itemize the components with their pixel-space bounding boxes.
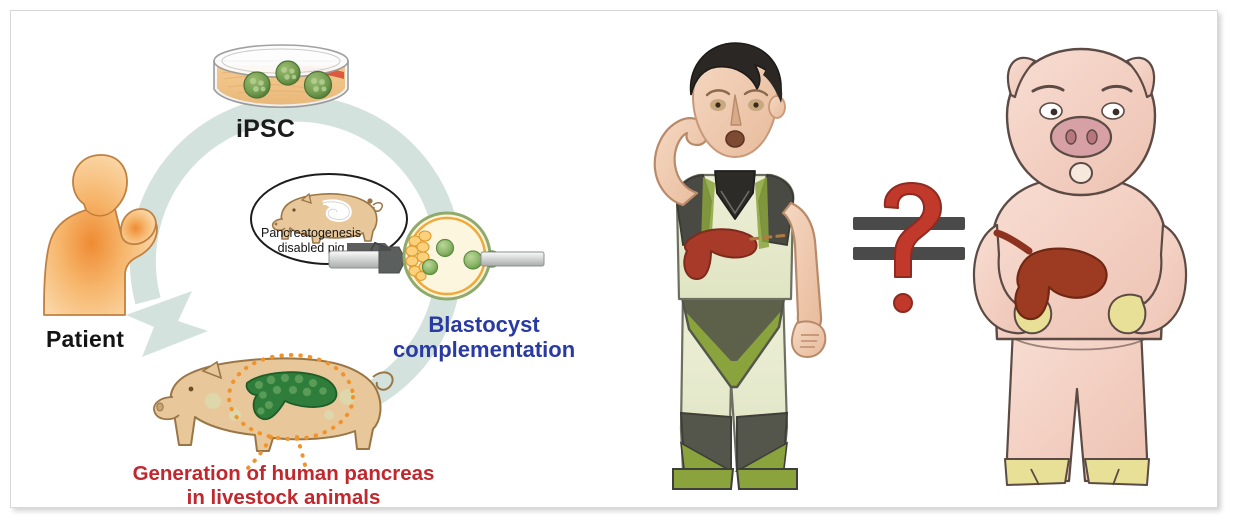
injected-ipsc (437, 240, 454, 257)
figure-frame: iPSC Patient (10, 10, 1218, 508)
patient-silhouette (39, 149, 191, 319)
injected-ipsc (464, 251, 482, 269)
holding-pipette (329, 243, 403, 273)
blastocyst-label-line2: complementation (393, 337, 575, 362)
petri-dish-with-ipsc-colonies (208, 39, 354, 117)
pig-figure (953, 39, 1209, 508)
blastocyst-label-line1: Blastocyst (428, 312, 539, 337)
generation-caption-line2: in livestock animals (187, 486, 381, 508)
blastocyst-complementation-cycle-panel: iPSC Patient (11, 11, 581, 507)
patient-label: Patient (46, 327, 124, 353)
ipsc-label: iPSC (236, 115, 295, 143)
blastocyst-injection (329, 203, 544, 307)
blastocyst-complementation-label: Blastocyst complementation (393, 313, 575, 362)
generation-caption-line1: Generation of human pancreas (133, 462, 435, 485)
pig-snout (1051, 117, 1111, 157)
boy-figure (611, 41, 861, 508)
chimeric-pig-with-human-pancreas (151, 345, 401, 465)
injection-pipette (481, 252, 544, 266)
human-versus-pig-panel (581, 11, 1218, 507)
injected-ipsc (423, 260, 438, 275)
generation-caption: Generation of human pancreas in livestoc… (106, 462, 461, 508)
